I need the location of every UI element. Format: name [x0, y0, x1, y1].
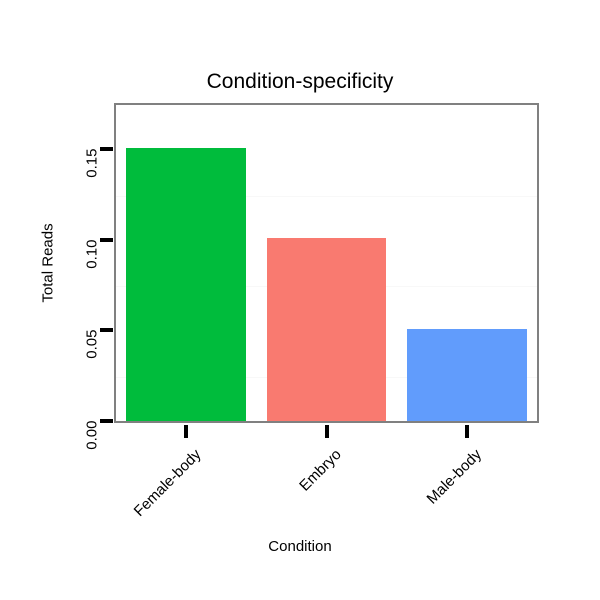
y-tick-label: 0.00 — [84, 421, 101, 450]
y-tick-mark — [100, 147, 113, 151]
x-tick-mark — [465, 425, 469, 438]
y-axis-title: Total Reads — [40, 223, 57, 302]
x-axis-title: Condition — [0, 538, 600, 555]
bar-embryo — [267, 238, 387, 421]
bar-female-body — [126, 148, 246, 421]
x-tick-mark — [184, 425, 188, 438]
y-tick-label: 0.05 — [84, 330, 101, 359]
x-tick-label: Male-body — [423, 446, 485, 508]
bar-male-body — [407, 329, 527, 421]
bars-layer — [114, 103, 539, 423]
x-tick-label: Female-body — [130, 446, 204, 520]
y-tick-mark — [100, 419, 113, 423]
chart-title: Condition-specificity — [0, 70, 600, 94]
y-tick-mark — [100, 238, 113, 242]
x-tick-label: Embryo — [296, 446, 345, 495]
x-tick-mark — [325, 425, 329, 438]
y-tick-label: 0.10 — [84, 239, 101, 268]
y-tick-mark — [100, 328, 113, 332]
bar-chart: Condition-specificity 0.000.050.100.15 F… — [0, 0, 600, 600]
y-tick-label: 0.15 — [84, 149, 101, 178]
